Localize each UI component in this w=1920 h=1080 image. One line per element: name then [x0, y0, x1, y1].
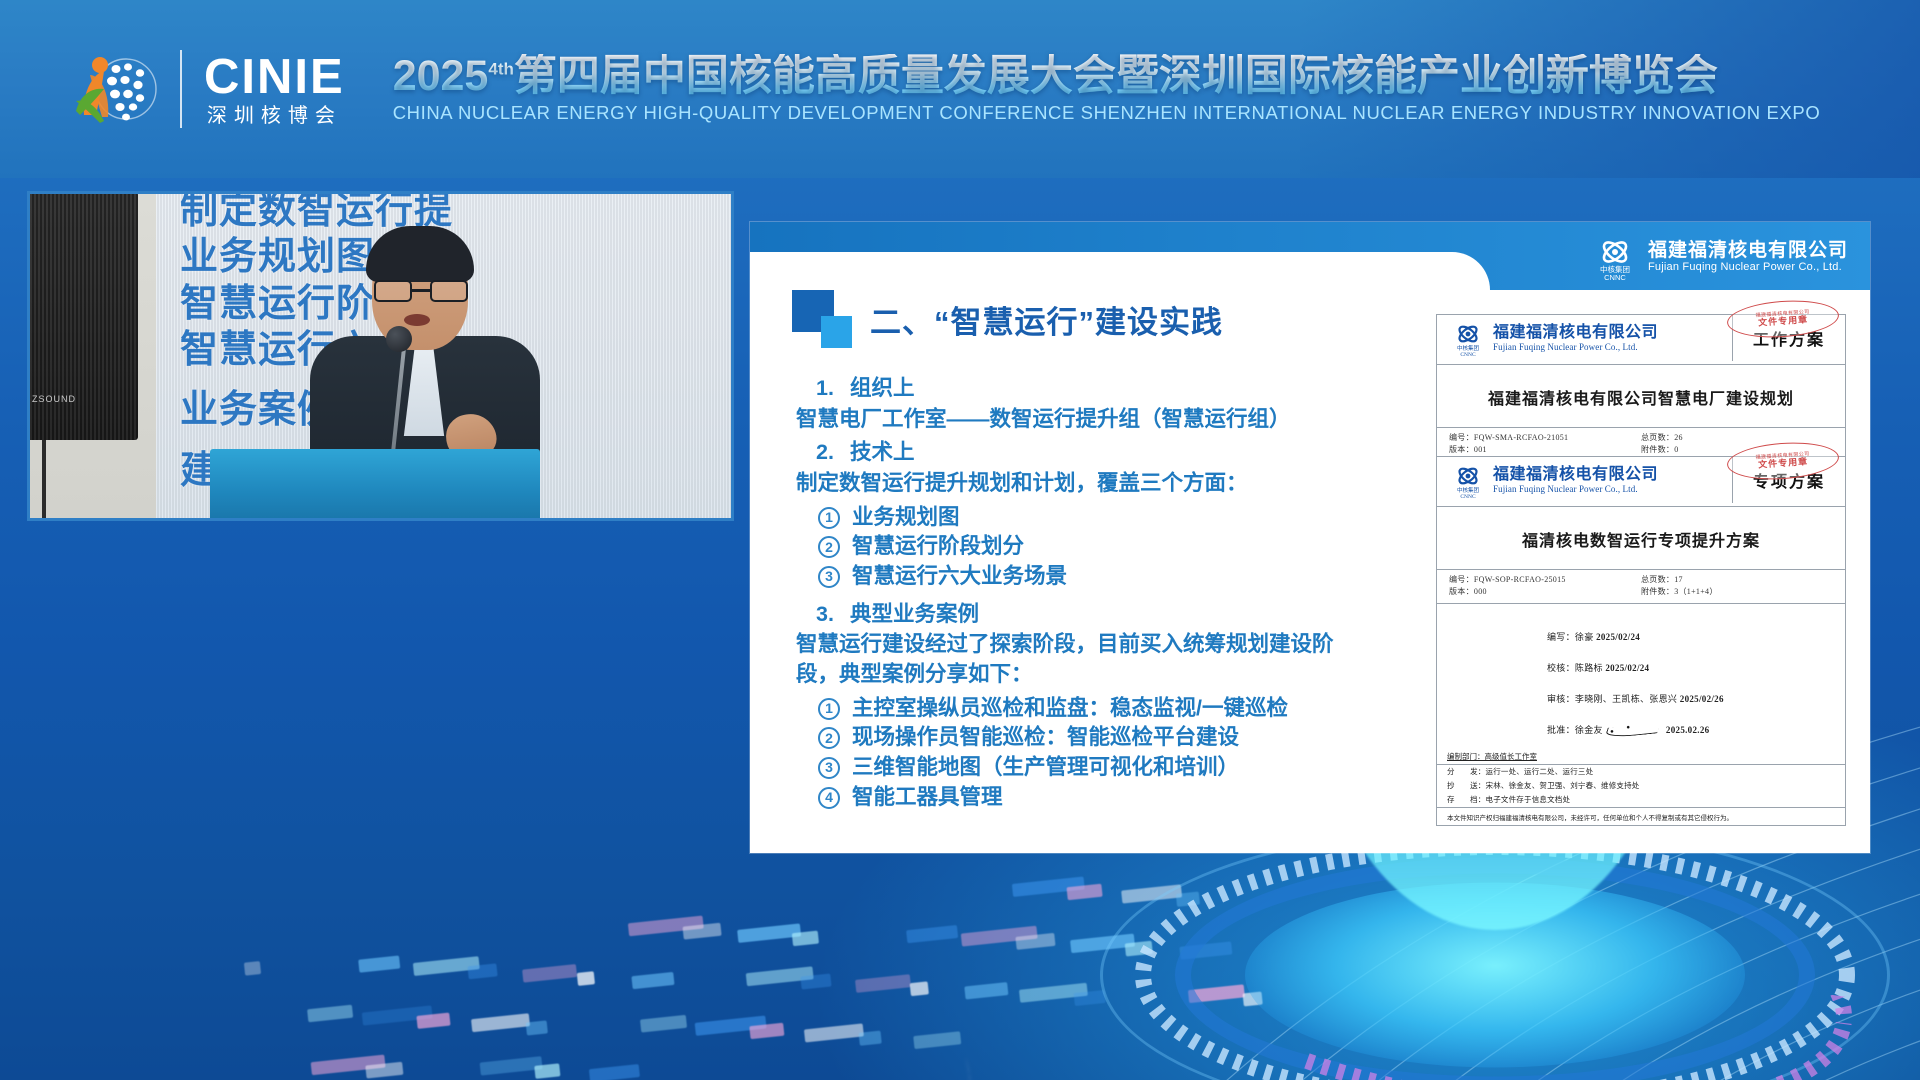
footer-row: 存 档：电子文件存于信息文档处	[1437, 793, 1845, 807]
doc-company-cn-2: 福建福清核电有限公司	[1493, 466, 1658, 484]
light-arc-blue	[0, 871, 1417, 1080]
signature-date: 2025/02/26	[1680, 694, 1724, 704]
list-item-label: 智慧运行阶段划分	[852, 532, 1024, 562]
dept-label: 编制部门：	[1447, 752, 1485, 761]
doc-cnnc-atom-icon-2: 中核集团 CNNC	[1451, 463, 1485, 497]
streak-block	[910, 981, 929, 996]
event-title-main: 第四届中国核能高质量发展大会暨深圳国际核能产业创新博览会	[514, 52, 1718, 100]
streak-block	[628, 916, 704, 937]
list-marker: 4	[818, 787, 840, 809]
slide-bullet-squares-icon	[792, 290, 852, 348]
list-item: 1业务规划图	[818, 503, 1396, 533]
streak-block	[589, 1064, 640, 1080]
section-3-heading: 3.典型业务案例	[816, 600, 1396, 630]
document-body-card-2: 福清核电数智运行专项提升方案 编号：FQW-SOP-RCFAO-25015 版本…	[1436, 506, 1846, 826]
section-1-heading: 1.组织上	[816, 374, 1396, 404]
slide-title-row: 二、“智慧运行”建设实践	[792, 290, 1223, 348]
list-marker: 1	[818, 507, 840, 529]
footer-row-label: 抄 送：	[1447, 781, 1486, 790]
microphone-icon	[386, 326, 412, 352]
streak-block	[859, 1031, 882, 1046]
signature-line: 批准：徐金友 2025.02.26	[1547, 723, 1845, 737]
event-titles: 20254th第四届中国核能高质量发展大会暨深圳国际核能产业创新博览会 CHIN…	[393, 54, 1821, 123]
list-item-label: 智慧运行六大业务场景	[852, 562, 1067, 592]
streak-block	[792, 931, 819, 947]
streak-block	[307, 1005, 353, 1023]
doc-meta-2: 编号：FQW-SOP-RCFAO-25015 版本：000 总页数：17 附件数…	[1437, 570, 1845, 603]
list-marker: 3	[818, 757, 840, 779]
loudspeaker-brand: ZSOUND	[32, 394, 76, 404]
streak-block	[1121, 884, 1182, 903]
streak-block	[961, 926, 1038, 947]
list-item: 1主控室操纵员巡检和监盘：稳态监视/一键巡检	[818, 694, 1396, 724]
dashed-ring	[1115, 830, 1875, 1080]
streak-block	[526, 1020, 548, 1035]
signature-date: 2025.02.26	[1666, 725, 1710, 735]
streak-block	[1074, 990, 1106, 1006]
list-marker: 1	[818, 698, 840, 720]
section-1-label: 组织上	[850, 376, 915, 400]
list-item-label: 三维智能地图（生产管理可视化和培训）	[852, 753, 1239, 783]
cnnc-atom-icon: 中核集团 CNNC	[1592, 234, 1638, 280]
podium	[210, 449, 540, 521]
footer-row-value: 电子文件存于信息文档处	[1486, 795, 1571, 804]
streak-block	[1176, 892, 1200, 907]
document-footer: 编制部门：高级值长工作室 分 发：运行一处、运行二处、运行三处抄 送：宋林、徐金…	[1437, 749, 1845, 825]
signature-name: 徐金友	[1575, 725, 1605, 735]
event-header: CINIE 深圳核博会 20254th第四届中国核能高质量发展大会暨深圳国际核能…	[0, 0, 1920, 178]
footer-row-label: 分 发：	[1447, 767, 1486, 776]
cinie-subtitle: 深圳核博会	[207, 106, 342, 126]
footer-row-value: 宋林、徐金友、贺卫强、刘宁春、维修支持处	[1486, 781, 1640, 790]
copyright-notice: 本文件知识产权归福建福清核电有限公司，未经许可，任何单位和个人不得复制或有其它侵…	[1437, 807, 1845, 825]
streak-block	[1243, 992, 1263, 1007]
streak-block	[413, 956, 480, 976]
dept-value: 高级值长工作室	[1485, 752, 1538, 761]
slide-company-en: Fujian Fuqing Nuclear Power Co., Ltd.	[1648, 261, 1848, 273]
streak-block	[964, 982, 1008, 999]
signature-line: 编写：徐豪 2025/02/24	[1547, 630, 1845, 643]
cnnc-caption: 中核集团 CNNC	[1600, 266, 1630, 283]
logo-divider	[180, 50, 182, 128]
event-year: 2025	[393, 52, 489, 100]
streak-block	[855, 974, 911, 993]
section-2-list: 1业务规划图2智慧运行阶段划分3智慧运行六大业务场景	[796, 503, 1396, 592]
section-2-label: 技术上	[850, 440, 915, 464]
streak-block	[746, 966, 814, 986]
signature-line: 审核：李晓刚、王凯栋、张恩兴 2025/02/26	[1547, 692, 1845, 705]
streak-block	[1070, 934, 1135, 954]
cinie-logo: CINIE 深圳核博会	[70, 45, 345, 133]
list-marker: 2	[818, 727, 840, 749]
streak-block	[471, 1013, 530, 1032]
slide-company-cn: 福建福清核电有限公司	[1648, 240, 1848, 261]
streak-block	[311, 1055, 386, 1076]
footer-row-value: 运行一处、运行二处、运行三处	[1486, 767, 1594, 776]
signature-date: 2025/02/24	[1605, 663, 1649, 673]
doc-company-en-1: Fujian Fuqing Nuclear Power Co., Ltd.	[1493, 342, 1658, 352]
streak-block	[522, 964, 577, 983]
section-3-label: 典型业务案例	[850, 602, 979, 626]
glasses-icon	[374, 280, 468, 302]
signature-date: 2025/02/24	[1596, 632, 1640, 642]
streak-block	[358, 955, 400, 972]
streak-block	[1066, 884, 1102, 901]
list-item-label: 业务规划图	[852, 503, 960, 533]
footer-row: 抄 送：宋林、徐金友、贺卫强、刘宁春、维修支持处	[1437, 779, 1845, 793]
footer-row: 分 发：运行一处、运行二处、运行三处	[1437, 765, 1845, 779]
list-item: 2智慧运行阶段划分	[818, 532, 1396, 562]
streak-block	[480, 1056, 543, 1075]
doc-company-en-2: Fujian Fuqing Nuclear Power Co., Ltd.	[1493, 484, 1658, 494]
streak-block	[640, 1015, 687, 1033]
document-thumbnails: 福建福清核电有限公司 文件专用章 中核集团	[1436, 314, 1846, 839]
list-item: 2现场操作员智能巡检：智能巡检平台建设	[818, 723, 1396, 753]
list-item: 4智能工器具管理	[818, 783, 1396, 813]
section-2-number: 2.	[816, 438, 850, 468]
streak-block	[416, 1013, 450, 1029]
slide-company-logo: 中核集团 CNNC 福建福清核电有限公司 Fujian Fuqing Nucle…	[1592, 234, 1848, 280]
signature-name: 徐豪	[1575, 632, 1596, 642]
signature-line: 校核：陈路标 2025/02/24	[1547, 661, 1845, 674]
streak-block	[534, 1063, 560, 1079]
streak-block	[804, 1023, 864, 1042]
event-title-cn: 20254th第四届中国核能高质量发展大会暨深圳国际核能产业创新博览会	[393, 54, 1821, 99]
streak-block	[1019, 983, 1088, 1003]
footer-row-label: 存 档：	[1447, 795, 1486, 804]
event-ordinal-sup: 4th	[488, 60, 514, 79]
presentation-slide: 中核集团 CNNC 福建福清核电有限公司 Fujian Fuqing Nucle…	[750, 222, 1870, 853]
signature-role: 校核：	[1547, 663, 1575, 673]
event-title-en: CHINA NUCLEAR ENERGY HIGH-QUALITY DEVELO…	[393, 102, 1821, 124]
doc-title-1: 福建福清核电有限公司智慧电厂建设规划	[1437, 365, 1845, 428]
streak-block	[362, 1005, 433, 1025]
section-3-text-line2: 段，典型案例分享如下：	[796, 660, 1396, 690]
handwritten-signature-icon	[1605, 723, 1663, 737]
light-arc-pink-2	[0, 907, 1505, 1080]
streak-block	[800, 973, 831, 989]
section-1-number: 1.	[816, 374, 850, 404]
doc-cnnc-atom-icon-1: 中核集团 CNNC	[1451, 321, 1485, 355]
list-item-label: 现场操作员智能巡检：智能巡检平台建设	[852, 723, 1239, 753]
section-3-list: 1主控室操纵员巡检和监盘：稳态监视/一键巡检2现场操作员智能巡检：智能巡检平台建…	[796, 694, 1396, 813]
section-1-text: 智慧电厂工作室——数智运行提升组（智慧运行组）	[796, 405, 1396, 435]
streak-block	[631, 972, 674, 989]
slide-title: 二、“智慧运行”建设实践	[870, 297, 1223, 342]
streak-block	[749, 1023, 784, 1039]
streak-block	[1125, 941, 1153, 957]
signature-role: 批准：	[1547, 725, 1575, 735]
list-item-label: 主控室操纵员巡检和监盘：稳态监视/一键巡检	[852, 694, 1288, 724]
signature-role: 编写：	[1547, 632, 1575, 642]
doc-title-2: 福清核电数智运行专项提升方案	[1437, 507, 1845, 570]
cinie-wordmark: CINIE	[204, 53, 345, 102]
streak-block	[365, 1062, 403, 1079]
list-item: 3三维智能地图（生产管理可视化和培训）	[818, 753, 1396, 783]
section-3-text-line1: 智慧运行建设经过了探索阶段，目前买入统筹规划建设阶	[796, 630, 1396, 660]
loudspeaker-icon: ZSOUND	[27, 192, 138, 440]
cinie-emblem-icon	[70, 45, 158, 133]
streak-block	[906, 925, 958, 943]
streak-block	[695, 1016, 767, 1036]
streak-block	[1179, 941, 1232, 959]
signature-block: 编写：徐豪 2025/02/24校核：陈路标 2025/02/24审核：李晓刚、…	[1437, 604, 1845, 737]
section-2-text: 制定数智运行提升规划和计划，覆盖三个方面：	[796, 469, 1396, 499]
streak-block	[1012, 876, 1085, 896]
speaker-photo: 制定数智运行提业务规划图智慧运行阶段智慧运行六大业务案例建设经 ZSOUND	[27, 191, 734, 521]
streak-block	[913, 1031, 961, 1049]
signature-name: 陈路标	[1575, 663, 1605, 673]
streak-block	[682, 923, 721, 940]
list-item-label: 智能工器具管理	[852, 783, 1003, 813]
speaker-cable	[42, 440, 72, 521]
streak-block	[1188, 984, 1245, 1003]
signature-name: 李晓刚、王凯栋、张恩兴	[1575, 694, 1680, 704]
slide-body-text: 1.组织上 智慧电厂工作室——数智运行提升组（智慧运行组） 2.技术上 制定数智…	[796, 374, 1396, 812]
streak-block	[1015, 933, 1055, 950]
list-marker: 3	[818, 566, 840, 588]
doc-company-cn-1: 福建福清核电有限公司	[1493, 324, 1658, 342]
streak-block	[244, 961, 261, 976]
section-2-heading: 2.技术上	[816, 438, 1396, 468]
list-marker: 2	[818, 536, 840, 558]
list-item: 3智慧运行六大业务场景	[818, 562, 1396, 592]
streak-block	[577, 971, 595, 986]
streak-block	[737, 923, 801, 943]
streak-block	[467, 963, 497, 979]
streak-blocks	[243, 848, 1257, 1080]
section-3-number: 3.	[816, 600, 850, 630]
signature-role: 审核：	[1547, 694, 1575, 704]
